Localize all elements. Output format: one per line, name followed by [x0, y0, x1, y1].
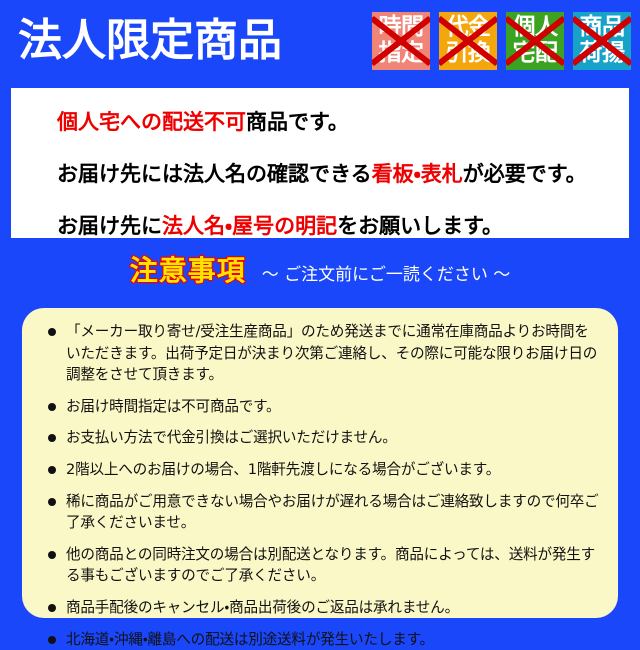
notice-bullet-list: 「メーカー取り寄せ/受注生産商品」のため発送までに通常在庫商品よりお時間をいただ…: [36, 321, 600, 650]
badge-line-2: 荷揚: [580, 41, 625, 67]
list-item-text: 稀に商品がご用意できない場合やお届けが遅れる場合はご連絡致しますので何卒ご了承く…: [66, 491, 600, 534]
bullet-dot-icon: [48, 403, 56, 411]
bullet-dot-icon: [48, 498, 56, 506]
list-item-text: お支払い方法で代金引換はご選択いただけません。: [66, 427, 600, 449]
line-2-head: お届け先には法人名の確認できる: [57, 162, 372, 186]
list-item-text: 他の商品との同時注文の場合は別配送となります。商品によっては、送料が発生する事も…: [66, 544, 600, 587]
delivery-condition-line-2: お届け先には法人名の確認できる看板・表札が必要です。: [57, 164, 629, 185]
delivery-condition-line-1: 個人宅への配送不可商品です。: [57, 112, 629, 133]
list-item: 稀に商品がご用意できない場合やお届けが遅れる場合はご連絡致しますので何卒ご了承く…: [36, 491, 600, 534]
badge-line-1: 代金: [446, 15, 491, 41]
list-item: 商品手配後のキャンセル・商品出荷後のご返品は承れません。: [36, 597, 600, 619]
notice-title: 注意事項: [130, 256, 246, 287]
badge-line-2: 引換: [446, 41, 491, 67]
badge-line-2: 指定: [379, 41, 424, 67]
bullet-dot-icon: [48, 551, 56, 559]
line-2-tail: が必要です。: [463, 162, 587, 186]
list-item: 2階以上へのお届けの場合、1階軒先渡しになる場合がございます。: [36, 459, 600, 481]
highlight-no-home-delivery: 個人宅への配送不可: [57, 110, 246, 134]
notice-list-panel: 「メーカー取り寄せ/受注生産商品」のため発送までに通常在庫商品よりお時間をいただ…: [22, 308, 618, 618]
list-item-text: 商品手配後のキャンセル・商品出荷後のご返品は承れません。: [66, 597, 600, 619]
delivery-condition-line-3: お届け先に法人名・屋号の明記をお願いします。: [57, 216, 629, 237]
list-item: 他の商品との同時注文の場合は別配送となります。商品によっては、送料が発生する事も…: [36, 544, 600, 587]
list-item-text: 2階以上へのお届けの場合、1階軒先渡しになる場合がございます。: [66, 459, 600, 481]
list-item: 「メーカー取り寄せ/受注生産商品」のため発送までに通常在庫商品よりお時間をいただ…: [36, 321, 600, 386]
list-item: お届け時間指定は不可商品です。: [36, 396, 600, 418]
badge-line-1: 個人: [513, 15, 558, 41]
badge-line-2: 宅配: [513, 41, 558, 67]
badge-time-designation: 時間 指定: [372, 12, 430, 70]
badge-goods-unloading: 商品 荷揚: [573, 12, 631, 70]
badge-line-1: 商品: [580, 15, 625, 41]
badge-line-1: 時間: [379, 15, 424, 41]
highlight-company-name-required: 法人名・屋号の明記: [162, 214, 337, 238]
list-item: 北海道・沖縄・離島への配送は別途送料が発生いたします。: [36, 629, 600, 650]
restriction-badge-group: 時間 指定 代金 引換 個人 宅配 商品 荷揚: [372, 12, 631, 70]
badge-cash-on-delivery: 代金 引換: [439, 12, 497, 70]
line-3-tail: をお願いします。: [337, 214, 503, 238]
line-3-head: お届け先に: [57, 214, 162, 238]
notice-subtitle: ～ ご注文前にご一読ください ～: [262, 266, 510, 285]
list-item-text: 北海道・沖縄・離島への配送は別途送料が発生いたします。: [66, 629, 600, 650]
notice-heading: 注意事項 ～ ご注文前にご一読ください ～: [0, 256, 640, 287]
badge-home-delivery: 個人 宅配: [506, 12, 564, 70]
line-1-tail: 商品です。: [246, 110, 349, 134]
delivery-conditions-panel: 個人宅への配送不可商品です。 お届け先には法人名の確認できる看板・表札が必要です…: [11, 88, 629, 238]
bullet-dot-icon: [48, 328, 56, 336]
highlight-signboard-nameplate: 看板・表札: [372, 162, 463, 186]
bullet-dot-icon: [48, 434, 56, 442]
bullet-dot-icon: [48, 604, 56, 612]
list-item: お支払い方法で代金引換はご選択いただけません。: [36, 427, 600, 449]
page-title: 法人限定商品: [18, 19, 282, 63]
bullet-dot-icon: [48, 466, 56, 474]
list-item-text: お届け時間指定は不可商品です。: [66, 396, 600, 418]
header-banner: 法人限定商品 時間 指定 代金 引換 個人 宅配 商品 荷揚: [0, 0, 640, 82]
list-item-text: 「メーカー取り寄せ/受注生産商品」のため発送までに通常在庫商品よりお時間をいただ…: [66, 321, 600, 386]
